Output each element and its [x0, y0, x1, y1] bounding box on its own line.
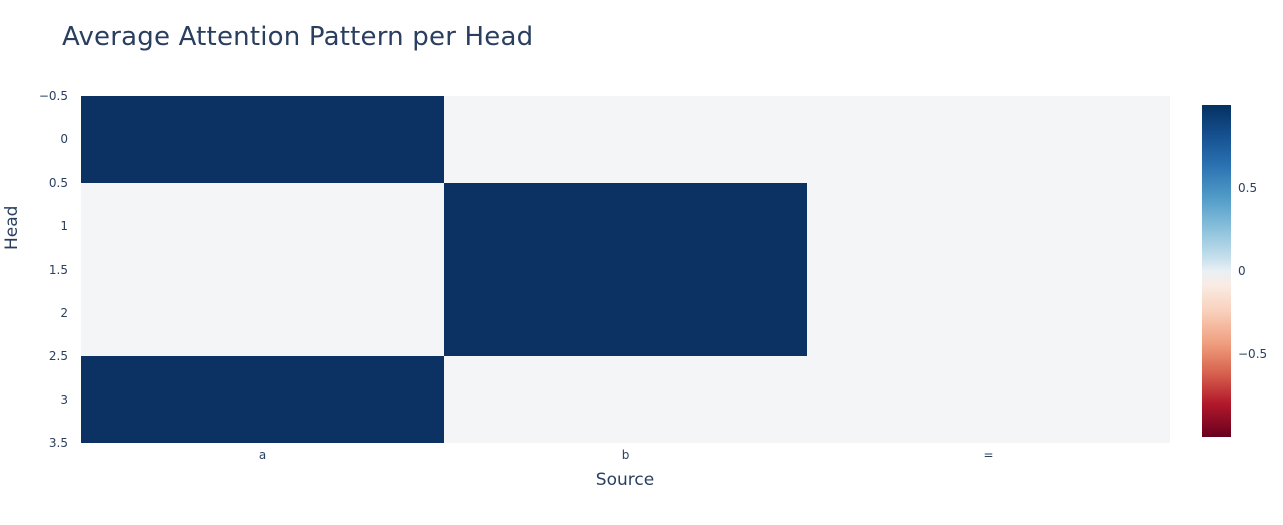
y-axis-tick-label: 1.5 — [49, 263, 68, 277]
y-axis-tick-label: 2 — [60, 306, 68, 320]
heatmap-plot-area[interactable] — [81, 96, 1170, 443]
y-axis-tick-label: 1 — [60, 219, 68, 233]
x-axis-tick-label: = — [983, 448, 993, 462]
chart-title: Average Attention Pattern per Head — [62, 22, 533, 52]
heatmap-cell[interactable] — [807, 183, 1170, 270]
y-axis-tick-label: 3.5 — [49, 436, 68, 450]
heatmap-cell[interactable] — [81, 270, 444, 357]
heatmap-cell[interactable] — [444, 96, 807, 183]
y-axis-tick-label: 0.5 — [49, 176, 68, 190]
heatmap-cell[interactable] — [807, 356, 1170, 443]
heatmap-cell[interactable] — [81, 183, 444, 270]
y-axis-tick-label: −0.5 — [39, 89, 68, 103]
heatmap-cell[interactable] — [444, 356, 807, 443]
x-axis-tick-label: b — [622, 448, 630, 462]
y-axis-ticks: −0.500.511.522.533.5 — [0, 0, 76, 525]
colorbar-gradient[interactable] — [1202, 105, 1231, 437]
y-axis-tick-label: 2.5 — [49, 349, 68, 363]
heatmap-cell[interactable] — [807, 96, 1170, 183]
y-axis-title: Head — [2, 206, 22, 250]
heatmap-figure: Average Attention Pattern per Head −0.50… — [0, 0, 1283, 525]
x-axis-title: Source — [596, 470, 654, 490]
heatmap-cell[interactable] — [81, 96, 444, 183]
heatmap-cell[interactable] — [444, 183, 807, 270]
y-axis-tick-label: 0 — [60, 132, 68, 146]
y-axis-tick-label: 3 — [60, 393, 68, 407]
colorbar-tick-label: 0.5 — [1238, 181, 1257, 195]
x-axis-tick-label: a — [259, 448, 266, 462]
heatmap-cell[interactable] — [807, 270, 1170, 357]
colorbar-tick-label: 0 — [1238, 264, 1246, 278]
heatmap-cell[interactable] — [81, 356, 444, 443]
colorbar-tick-label: −0.5 — [1238, 347, 1267, 361]
heatmap-cell[interactable] — [444, 270, 807, 357]
